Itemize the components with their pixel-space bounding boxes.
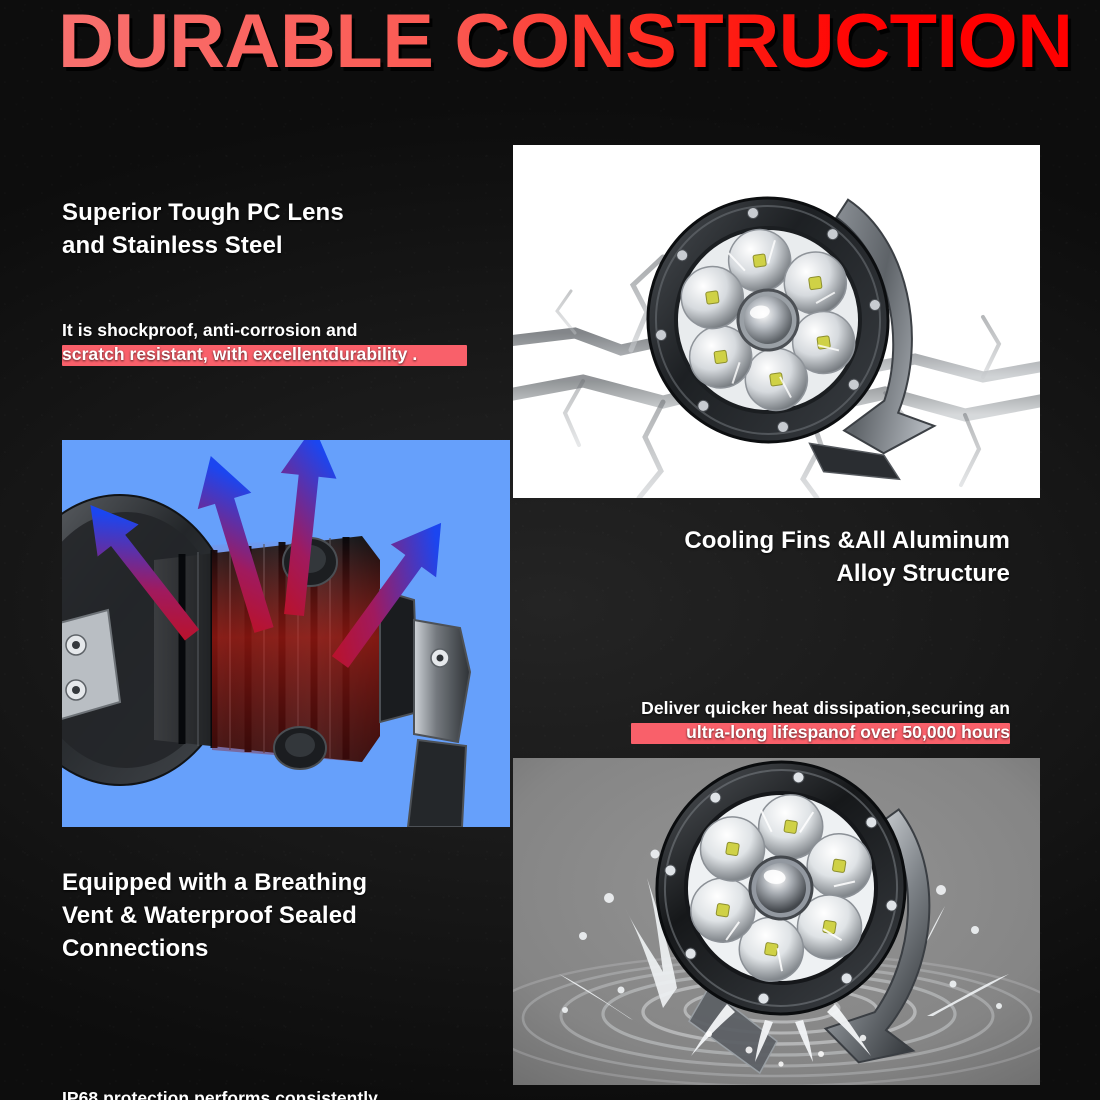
body-line: Deliver quicker heat dissipation,securin…: [592, 696, 1010, 720]
feature-block-breathing-vent: Equipped with a Breathing Vent & Waterpr…: [62, 866, 492, 965]
heading-line: Vent & Waterproof Sealed: [62, 899, 492, 932]
feature-heading-cooling-fins: Cooling Fins &All Aluminum Alloy Structu…: [598, 524, 1010, 590]
heading-line: and Stainless Steel: [62, 229, 492, 262]
body-line: It is shockproof, anti-corrosion and: [62, 318, 492, 342]
infographic-page: DURABLE CONSTRUCTION Superior Tough PC L…: [0, 0, 1100, 1100]
heading-line: Alloy Structure: [598, 557, 1010, 590]
feature-block-pc-lens: Superior Tough PC Lens and Stainless Ste…: [62, 196, 492, 262]
heading-line: Equipped with a Breathing: [62, 866, 492, 899]
heading-line: Superior Tough PC Lens: [62, 196, 492, 229]
feature-body-cooling-fins: Deliver quicker heat dissipation,securin…: [592, 696, 1010, 744]
feature-body-breathing-vent: IP68 protection performs consistently in…: [62, 1086, 492, 1100]
body-line: scratch resistant, with excellentdurabil…: [62, 342, 492, 366]
body-text: IP68 protection performs consistently in…: [62, 1086, 492, 1100]
feature-heading-pc-lens: Superior Tough PC Lens and Stainless Ste…: [62, 196, 492, 262]
feature-heading-breathing-vent: Equipped with a Breathing Vent & Waterpr…: [62, 866, 492, 965]
body-text: Deliver quicker heat dissipation,securin…: [592, 696, 1010, 744]
body-line: IP68 protection performs consistently: [62, 1086, 492, 1100]
heading-line: Cooling Fins &All Aluminum: [598, 524, 1010, 557]
body-text: It is shockproof, anti-corrosion and scr…: [62, 318, 492, 366]
product-image-cracked-ground: [513, 145, 1040, 498]
page-title: DURABLE CONSTRUCTION: [58, 4, 1068, 80]
product-image-cooling-fins: [62, 440, 510, 827]
feature-block-cooling-fins: Cooling Fins &All Aluminum Alloy Structu…: [598, 524, 1010, 590]
feature-body-pc-lens: It is shockproof, anti-corrosion and scr…: [62, 318, 492, 366]
heading-line: Connections: [62, 932, 492, 965]
body-line: ultra-long lifespanof over 50,000 hours: [592, 720, 1010, 744]
product-image-water-splash: [513, 758, 1040, 1085]
